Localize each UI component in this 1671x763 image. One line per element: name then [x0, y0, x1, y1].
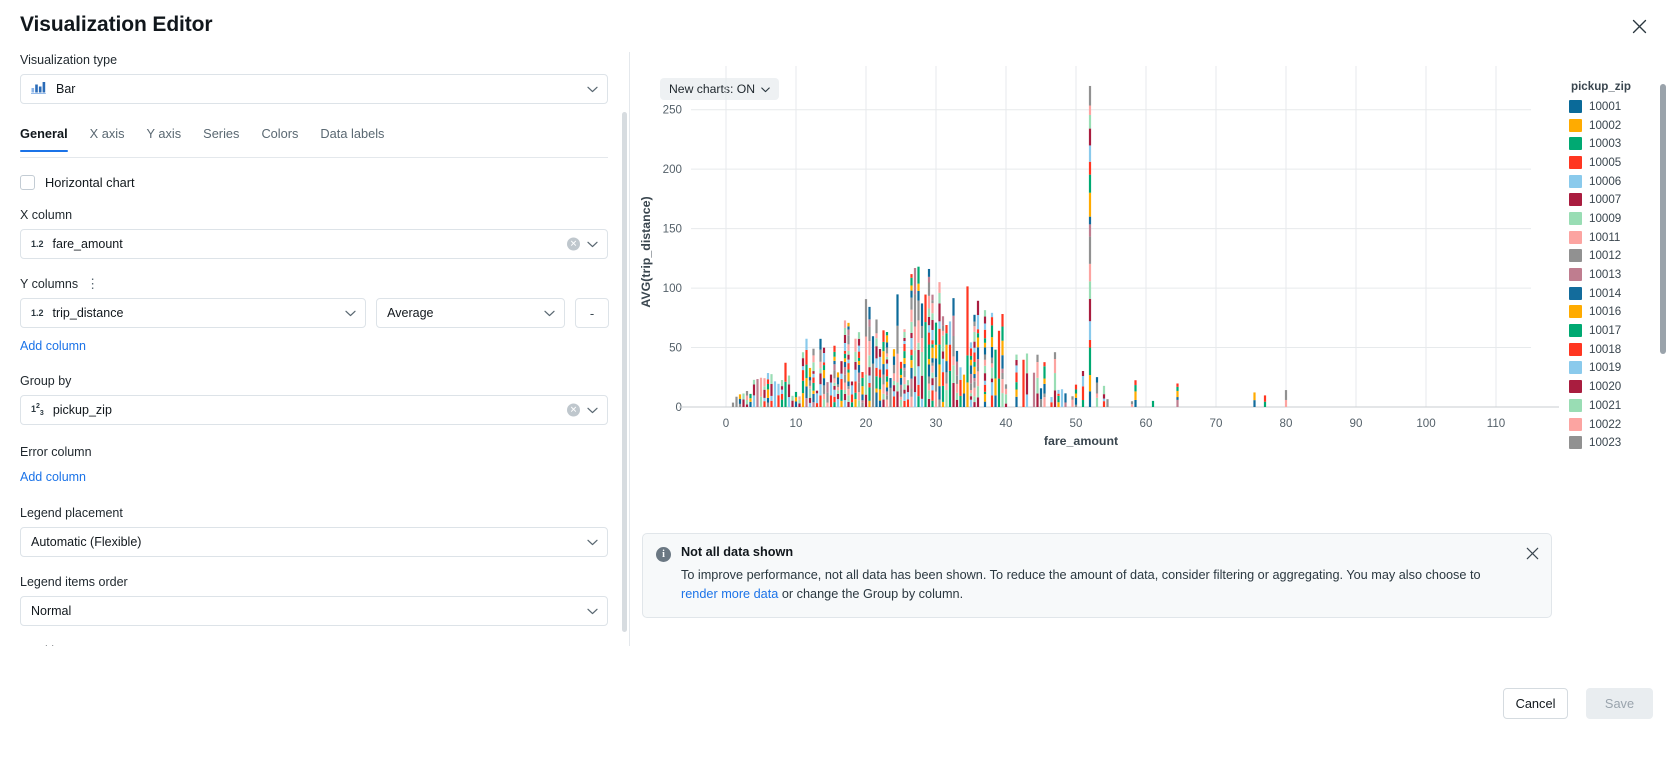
legend-swatch-icon	[1569, 324, 1582, 337]
bar-segment	[1050, 397, 1052, 402]
legend-item[interactable]: 10001	[1569, 97, 1659, 116]
tab-x-axis[interactable]: X axis	[79, 126, 136, 151]
y-column-select[interactable]: 1.2 trip_distance	[20, 298, 366, 328]
bar-segment	[910, 397, 912, 407]
bar-segment	[746, 404, 748, 407]
close-icon[interactable]	[1625, 12, 1653, 40]
bar-segment	[844, 320, 846, 328]
bar-segment	[977, 359, 979, 367]
bar-segment	[973, 367, 975, 374]
bar-segment	[868, 307, 870, 319]
bar-segment	[914, 294, 916, 326]
bar-segment	[798, 403, 800, 407]
bar-segment	[868, 401, 870, 407]
bar-segment	[844, 354, 846, 359]
bar-segment	[1015, 360, 1017, 365]
y-columns-menu-icon[interactable]: ⋮	[84, 280, 101, 288]
bar-segment	[858, 382, 860, 392]
bar-segment	[767, 403, 769, 407]
bar-segment	[854, 399, 856, 407]
bar-segment	[910, 338, 912, 350]
bar-segment	[1050, 402, 1052, 407]
bar-segment	[735, 397, 737, 407]
bar-segment	[914, 376, 916, 392]
bar-segment	[942, 326, 944, 331]
bar-segment	[900, 389, 902, 396]
y-tick-label: 50	[669, 342, 682, 355]
x-axis-title: fare_amount	[631, 434, 1531, 448]
bar-segment	[931, 300, 933, 303]
bar-segment	[844, 383, 846, 391]
bar-segment	[998, 379, 1000, 407]
bar-segment	[1001, 369, 1003, 373]
bar-segment	[858, 332, 860, 339]
bar-segment	[865, 375, 867, 395]
bar-segment	[970, 390, 972, 393]
bar-segment	[900, 362, 902, 369]
legend-swatch-icon	[1569, 436, 1582, 449]
bar-segment	[1264, 395, 1266, 401]
bar-segment	[875, 388, 877, 392]
bar-segment	[893, 391, 895, 396]
tab-colors[interactable]: Colors	[250, 126, 309, 151]
bar-segment	[910, 389, 912, 397]
x-tick-label: 10	[790, 417, 803, 430]
legend-scrollbar[interactable]	[1660, 84, 1666, 354]
bar-segment	[1089, 281, 1091, 299]
bar-segment	[928, 296, 930, 309]
bar-segment	[1054, 352, 1056, 359]
bar-segment	[984, 385, 986, 392]
bar-segment	[928, 277, 930, 283]
legend-item-label: 10023	[1589, 436, 1621, 449]
bar-segment	[928, 317, 930, 325]
legend-item[interactable]: 10011	[1569, 228, 1659, 247]
bar-segment	[931, 373, 933, 379]
page-title: Visualization Editor	[20, 13, 212, 37]
bar-segment	[945, 390, 947, 407]
bar-segment	[917, 385, 919, 396]
legend-item[interactable]: 10020	[1569, 377, 1659, 396]
bar-segment	[914, 327, 916, 351]
bar-segment	[1089, 299, 1091, 321]
legend-item[interactable]: 10003	[1569, 134, 1659, 153]
bar-segment	[977, 397, 979, 407]
bar-segment	[903, 368, 905, 371]
bar-segment	[984, 402, 986, 407]
bar-segment	[886, 342, 888, 347]
bar-segment	[805, 398, 807, 407]
bar-segment	[928, 325, 930, 332]
bar-segment	[858, 358, 860, 361]
bar-segment	[973, 362, 975, 367]
bar-segment	[903, 344, 905, 351]
bar-segment	[945, 333, 947, 345]
bar-segment	[917, 350, 919, 366]
bar-segment	[1043, 384, 1045, 394]
bar-segment	[931, 366, 933, 373]
bar-segment	[1089, 217, 1091, 225]
bar-segment	[847, 329, 849, 335]
tab-series[interactable]: Series	[192, 126, 250, 151]
legend-items-order-select[interactable]: Normal	[20, 596, 608, 626]
bar-segment	[903, 358, 905, 364]
bar-segment	[847, 363, 849, 369]
bar-segment	[973, 342, 975, 348]
bar-segment	[977, 367, 979, 371]
bar-segment	[767, 389, 769, 398]
bar-segment	[903, 341, 905, 344]
bar-segment	[928, 309, 930, 317]
bar-segment	[910, 291, 912, 298]
bar-segment	[984, 338, 986, 343]
bar-segment	[942, 359, 944, 372]
bar-segment	[917, 267, 919, 284]
bar-segment	[896, 391, 898, 407]
bar-segment	[781, 400, 783, 407]
bar-segment	[917, 320, 919, 342]
bar-segment	[928, 269, 930, 277]
bar-segment	[749, 398, 751, 402]
bar-segment	[847, 402, 849, 407]
bar-segment	[840, 401, 842, 407]
legend-swatch-icon	[1569, 231, 1582, 244]
bar-segment	[812, 349, 814, 356]
bar-segment	[770, 396, 772, 401]
tab-y-axis[interactable]: Y axis	[136, 126, 193, 151]
bar-segment	[945, 361, 947, 372]
x-tick-label: 0	[723, 417, 729, 430]
bar-segment	[984, 347, 986, 354]
bar-segment	[984, 310, 986, 316]
bar-segment	[886, 364, 888, 370]
bar-segment	[1040, 388, 1042, 399]
bar-segment	[833, 402, 835, 407]
legend-swatch-icon	[1569, 100, 1582, 113]
bar-segment	[910, 322, 912, 333]
legend-items-order-label: Legend items order	[20, 574, 609, 590]
bar-segment	[907, 399, 909, 407]
bar-segment	[970, 400, 972, 407]
x-tick-label: 100	[1416, 417, 1435, 430]
legend-item[interactable]: 10002	[1569, 116, 1659, 135]
bar-segment	[917, 301, 919, 321]
bar-segment	[851, 402, 853, 407]
legend-swatch-icon	[1569, 380, 1582, 393]
y-aggregation-select[interactable]: Average	[376, 298, 565, 328]
bar-segment	[952, 316, 954, 336]
legend-item[interactable]: 10007	[1569, 190, 1659, 209]
bar-segment	[903, 371, 905, 377]
render-more-data-link[interactable]: render more data	[681, 585, 778, 604]
bar-segment	[910, 333, 912, 338]
banner-close-icon[interactable]	[1523, 544, 1541, 562]
bar-segment	[1043, 362, 1045, 366]
legend-item[interactable]: 10006	[1569, 172, 1659, 191]
bar-segment	[847, 351, 849, 355]
bar-segment	[921, 326, 923, 338]
group-by-select[interactable]: 123 pickup_zip ✕	[20, 395, 608, 425]
bar-segment	[833, 370, 835, 378]
y-tick-label: 200	[663, 163, 682, 176]
bar-segment	[886, 391, 888, 395]
legend-item[interactable]: 10005	[1569, 153, 1659, 172]
bar-segment	[994, 395, 996, 407]
bar-segment	[914, 392, 916, 407]
bar-segment	[886, 353, 888, 356]
bar-segment	[756, 379, 758, 407]
bar-chart-svg[interactable]: 0501001502002500102030405060708090100110	[631, 52, 1671, 472]
viz-type-label: Visualization type	[20, 52, 609, 68]
add-y-column-link[interactable]: Add column	[20, 339, 86, 353]
bar-segment	[875, 376, 877, 388]
bar-segment	[1089, 340, 1091, 348]
bar-segment	[840, 374, 842, 379]
bar-segment	[942, 402, 944, 407]
bar-segment	[1253, 400, 1255, 407]
bar-segment	[991, 313, 993, 317]
tab-general[interactable]: General	[20, 126, 79, 151]
bar-segment	[1089, 145, 1091, 161]
bar-segment	[833, 346, 835, 352]
bar-segment	[1082, 376, 1084, 386]
bar-segment	[858, 400, 860, 407]
bar-segment	[956, 362, 958, 376]
bar-segment	[1089, 129, 1091, 146]
bar-segment	[854, 362, 856, 370]
bar-segment	[854, 370, 856, 382]
legend-item[interactable]: 10019	[1569, 359, 1659, 378]
bar-segment	[938, 303, 940, 321]
x-column-label: X column	[20, 207, 609, 223]
config-panel-scrollbar[interactable]	[622, 112, 627, 632]
bar-segment	[858, 392, 860, 400]
bar-segment	[1285, 390, 1287, 400]
bar-segment	[847, 381, 849, 386]
bar-segment	[763, 401, 765, 407]
bar-segment	[847, 344, 849, 350]
bar-segment	[1089, 375, 1091, 391]
x-column-select[interactable]: 1.2 fare_amount ✕	[20, 229, 608, 259]
bar-segment	[907, 392, 909, 399]
bar-segment	[819, 368, 821, 373]
legend-swatch-icon	[1569, 156, 1582, 169]
bar-segment	[823, 365, 825, 370]
legend-item-label: 10012	[1589, 249, 1621, 262]
bar-segment	[910, 368, 912, 379]
viz-type-value: Bar	[56, 82, 75, 96]
bar-segment	[847, 360, 849, 364]
legend-swatch-icon	[1569, 287, 1582, 300]
bar-segment	[952, 356, 954, 365]
bar-segment	[910, 298, 912, 310]
bar-segment	[966, 355, 968, 382]
viz-type-select[interactable]: Bar	[20, 74, 608, 104]
clear-x-column-icon[interactable]: ✕	[567, 238, 580, 251]
bar-segment	[945, 325, 947, 333]
legend-swatch-icon	[1569, 212, 1582, 225]
bar-segment	[812, 362, 814, 371]
add-error-column-link[interactable]: Add column	[20, 470, 86, 484]
bar-segment	[809, 398, 811, 403]
legend-item[interactable]: 10022	[1569, 415, 1659, 434]
legend-item-label: 10001	[1589, 100, 1621, 113]
bar-segment	[781, 390, 783, 394]
bar-segment	[809, 389, 811, 398]
bar-segment	[1096, 383, 1098, 394]
bar-segment	[763, 390, 765, 398]
bar-segment	[774, 381, 776, 407]
legend-swatch-icon	[1569, 137, 1582, 150]
bar-segment	[903, 394, 905, 401]
bar-segment	[1089, 237, 1091, 264]
bar-segment	[963, 394, 965, 407]
legend-placement-value: Automatic (Flexible)	[31, 535, 141, 549]
bar-segment	[1131, 401, 1133, 404]
settings-tabs: General X axis Y axis Series Colors Data…	[20, 126, 608, 158]
bar-segment	[1089, 348, 1091, 375]
bar-segment	[858, 346, 860, 352]
bar-segment	[823, 394, 825, 399]
integer-type-icon: 123	[31, 403, 44, 417]
clear-group-by-icon[interactable]: ✕	[567, 404, 580, 417]
bar-segment	[819, 362, 821, 368]
bar-segment	[833, 357, 835, 361]
bar-segment	[1005, 384, 1007, 388]
remove-y-column-button[interactable]: -	[575, 298, 609, 328]
bar-segment	[882, 375, 884, 385]
legend-placement-select[interactable]: Automatic (Flexible)	[20, 527, 608, 557]
bar-segment	[973, 378, 975, 381]
bar-segment	[970, 356, 972, 360]
bar-segment	[844, 367, 846, 375]
bar-segment	[921, 303, 923, 326]
bar-segment	[1036, 394, 1038, 407]
bar-segment	[847, 386, 849, 389]
banner-body-part1: To improve performance, not all data has…	[681, 568, 1481, 582]
y-aggregation-value: Average	[387, 306, 433, 320]
bar-segment	[886, 357, 888, 360]
bar-segment	[840, 379, 842, 390]
bar-segment	[823, 362, 825, 365]
bar-segment	[977, 333, 979, 337]
legend-item-label: 10002	[1589, 119, 1621, 132]
bar-segment	[753, 384, 755, 395]
legend-item[interactable]: 10012	[1569, 247, 1659, 266]
bar-segment	[952, 365, 954, 383]
bar-segment	[847, 355, 849, 360]
bar-segment	[1096, 398, 1098, 407]
legend-item[interactable]: 10013	[1569, 265, 1659, 284]
bar-segment	[1264, 402, 1266, 407]
bar-segment	[931, 340, 933, 344]
bar-segment	[1082, 386, 1084, 400]
x-tick-label: 30	[930, 417, 943, 430]
bar-segment	[973, 374, 975, 378]
bar-segment	[991, 368, 993, 379]
bar-segment	[973, 402, 975, 407]
bar-segment	[861, 386, 863, 394]
bar-segment	[970, 360, 972, 366]
bar-segment	[809, 368, 811, 377]
cancel-button[interactable]: Cancel	[1503, 688, 1568, 719]
bar-segment	[956, 375, 958, 384]
bar-segment	[833, 364, 835, 370]
bar-segment	[861, 378, 863, 386]
bar-segment	[914, 350, 916, 376]
bar-segment	[938, 386, 940, 399]
legend-item[interactable]: 10017	[1569, 321, 1659, 340]
bar-segment	[749, 402, 751, 407]
bar-segment	[935, 377, 937, 392]
bar-segment	[802, 358, 804, 366]
bar-segment	[1043, 397, 1045, 407]
chart-plot-area: AVG(trip_distance) fare_amount 050100150…	[631, 52, 1671, 472]
bar-segment	[812, 394, 814, 402]
bar-segment	[819, 373, 821, 384]
bar-segment	[823, 370, 825, 378]
legend-item[interactable]: 10018	[1569, 340, 1659, 359]
bar-segment	[886, 387, 888, 391]
bar-segment	[844, 400, 846, 407]
bar-segment	[1075, 394, 1077, 398]
bar-segment	[1033, 373, 1035, 407]
bar-segment	[1071, 396, 1073, 400]
bar-segment	[760, 397, 762, 407]
legend-item[interactable]: 10016	[1569, 303, 1659, 322]
bar-segment	[977, 337, 979, 347]
bar-segment	[861, 400, 863, 402]
bar-segment	[763, 378, 765, 386]
horizontal-chart-checkbox[interactable]: Horizontal chart	[20, 175, 609, 190]
horizontal-chart-label: Horizontal chart	[45, 175, 135, 190]
bar-segment	[1089, 175, 1091, 193]
bar-segment	[875, 338, 877, 346]
bar-segment	[1005, 404, 1007, 407]
bar-segment	[823, 353, 825, 362]
bar-segment	[847, 373, 849, 382]
legend-item[interactable]: 10009	[1569, 209, 1659, 228]
bar-segment	[833, 397, 835, 402]
legend-placement-label: Legend placement	[20, 505, 609, 521]
bar-segment	[903, 338, 905, 341]
bar-segment	[861, 403, 863, 407]
bar-segment	[970, 383, 972, 390]
bar-segment	[931, 363, 933, 366]
bar-segment	[851, 394, 853, 402]
bar-segment	[844, 351, 846, 354]
bar-segment	[893, 365, 895, 373]
bar-segment	[746, 396, 748, 400]
legend-item[interactable]: 10021	[1569, 396, 1659, 415]
bar-segment	[879, 369, 881, 377]
legend-item[interactable]: 10023	[1569, 433, 1659, 452]
bar-segment	[973, 326, 975, 332]
legend-swatch-icon	[1569, 249, 1582, 262]
bar-segment	[903, 364, 905, 368]
legend-item[interactable]: 10014	[1569, 284, 1659, 303]
bar-segment	[938, 329, 940, 345]
legend-item-label: 10013	[1589, 268, 1621, 281]
tab-data-labels[interactable]: Data labels	[309, 126, 395, 151]
bar-segment	[893, 396, 895, 407]
legend-item-label: 10021	[1589, 399, 1621, 412]
bar-segment	[1089, 115, 1091, 129]
bar-segment	[1176, 383, 1178, 386]
bar-segment	[837, 372, 839, 377]
y-columns-label-row: Y columns ⋮	[20, 276, 609, 292]
bar-segment	[1005, 394, 1007, 403]
